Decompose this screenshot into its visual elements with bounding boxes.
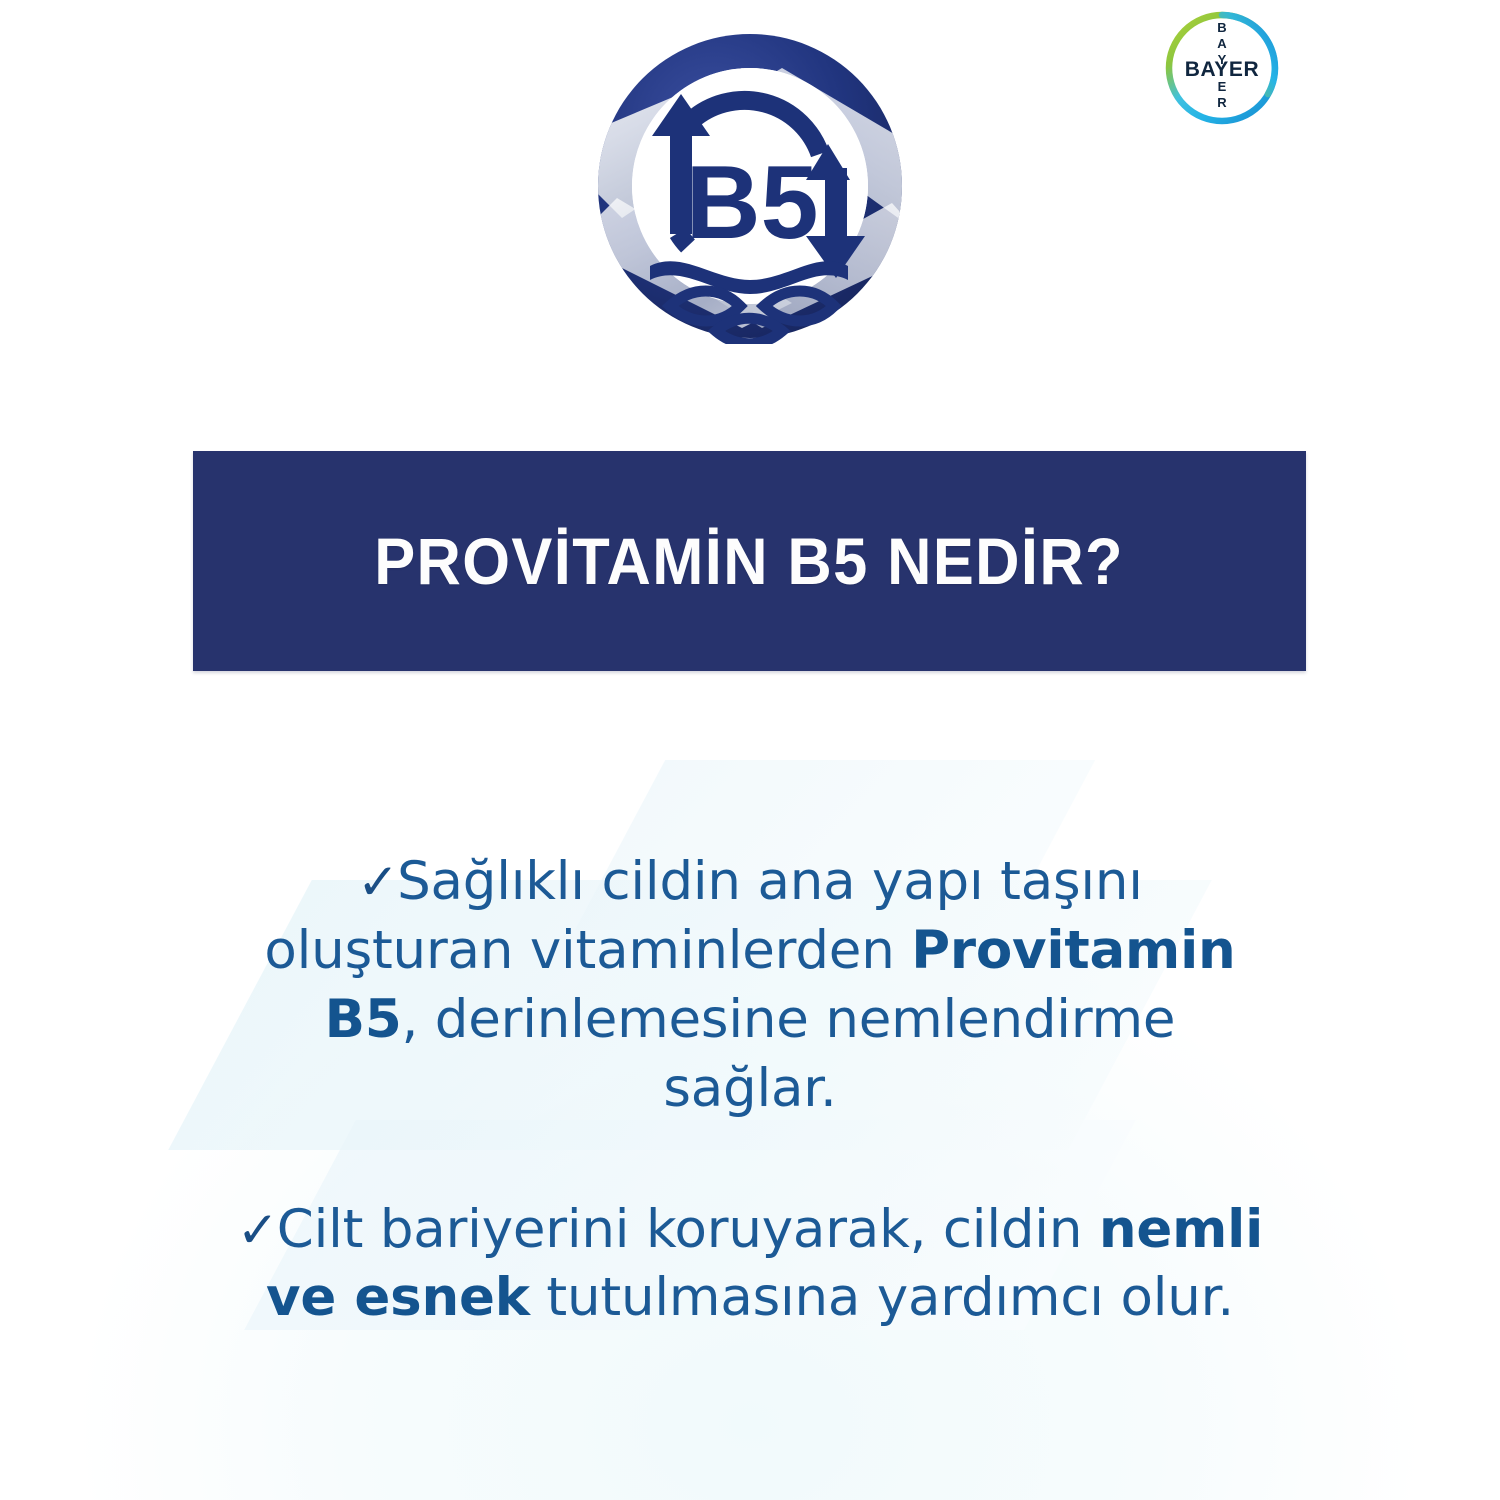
benefit-paragraph-1: ✓Sağlıklı cildin ana yapı taşını oluştur… — [230, 848, 1270, 1124]
svg-text:E: E — [1218, 79, 1227, 94]
b5-label: B5 — [686, 145, 819, 261]
bayer-logo: BAYER B A Y E R — [1156, 6, 1288, 138]
promo-slide: BAYER B A Y E R — [0, 0, 1500, 1500]
body-copy: ✓Sağlıklı cildin ana yapı taşını oluştur… — [0, 848, 1500, 1333]
title-banner: PROVİTAMİN B5 NEDİR? — [193, 451, 1306, 671]
check-icon: ✓ — [357, 853, 397, 911]
provitamin-b5-badge: B5 — [592, 28, 908, 344]
svg-text:A: A — [1217, 36, 1227, 51]
benefit-paragraph-2: ✓Cilt bariyerini koruyarak, cildin nemli… — [230, 1196, 1270, 1334]
svg-text:R: R — [1217, 95, 1227, 110]
benefit-2-segment-1: Cilt bariyerini koruyarak, cildin — [277, 1199, 1099, 1260]
bayer-wordmark-vertical: B — [1217, 20, 1226, 35]
page-title: PROVİTAMİN B5 NEDİR? — [375, 528, 1125, 594]
benefit-2-segment-3: tutulmasına yardımcı olur. — [530, 1267, 1234, 1328]
check-icon: ✓ — [237, 1201, 277, 1259]
svg-text:Y: Y — [1218, 52, 1227, 67]
benefit-1-segment-3: , derinlemesine nemlendirme sağlar. — [402, 989, 1176, 1119]
